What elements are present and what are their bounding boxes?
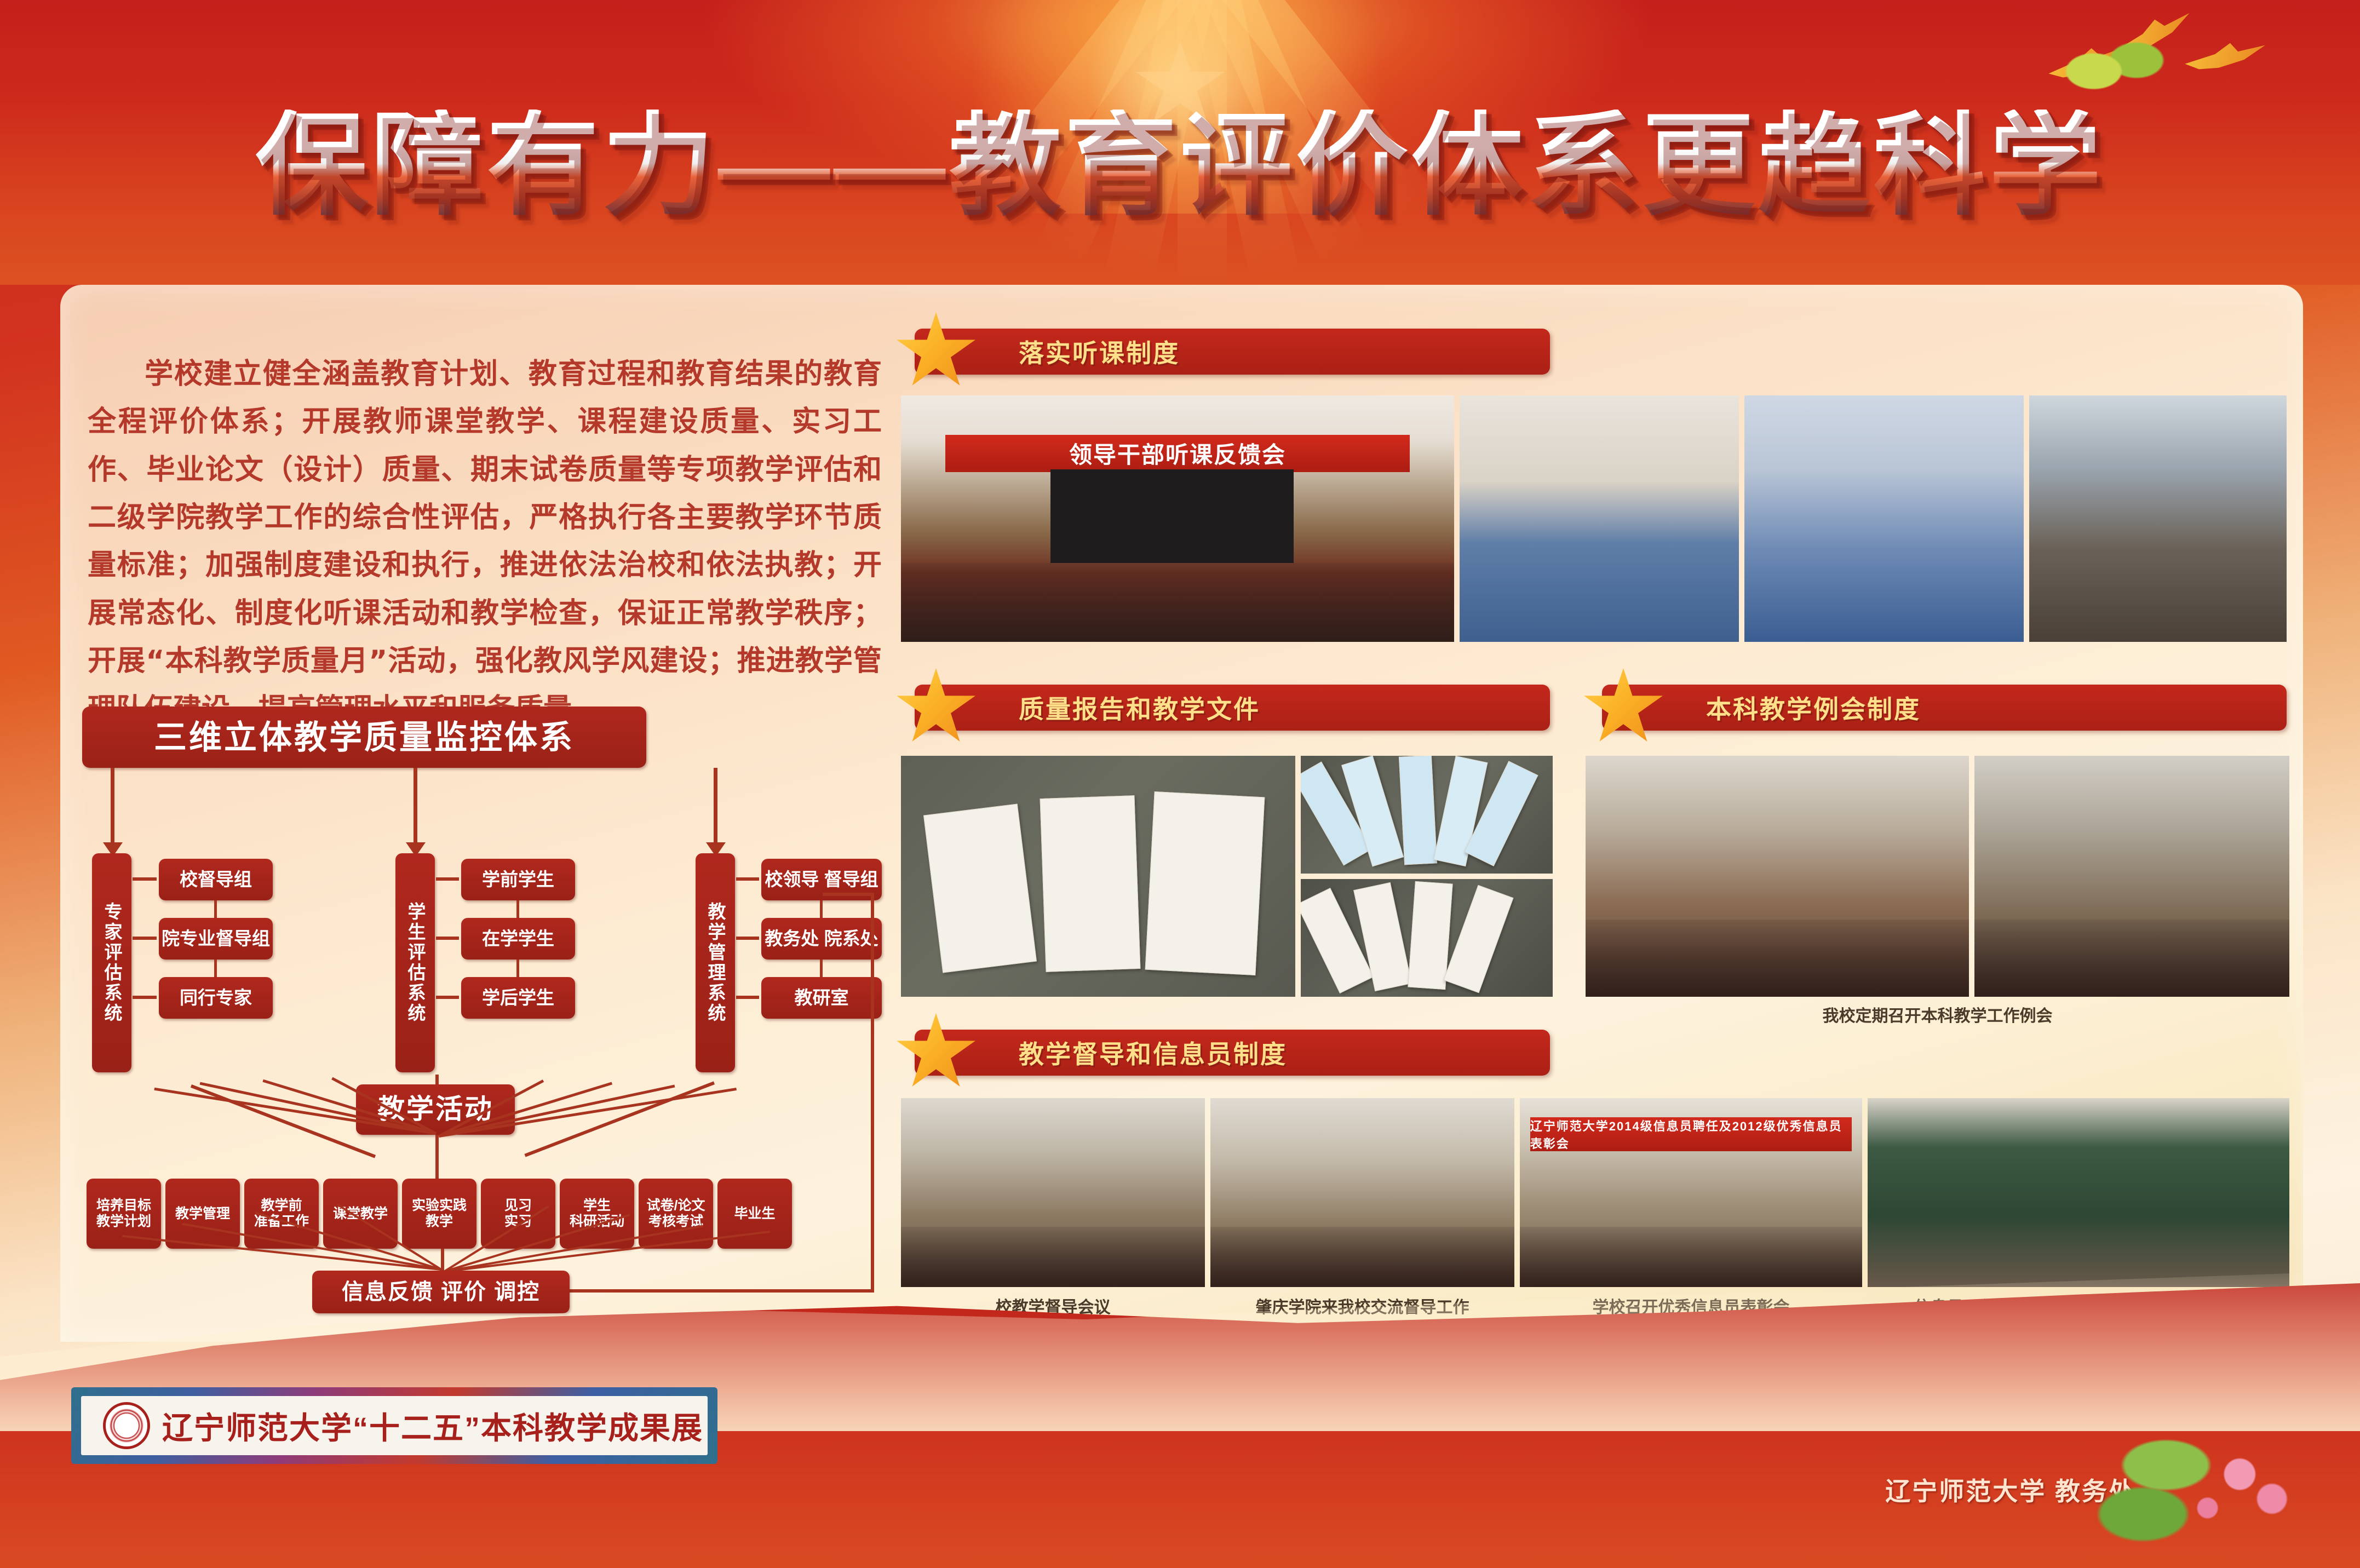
node-peer-experts: 同行专家 bbox=[159, 977, 273, 1019]
activity-node: 教学管理 bbox=[165, 1179, 240, 1249]
connector-line bbox=[133, 937, 157, 940]
feedback-loop-line bbox=[570, 1289, 874, 1293]
node-post-study-student: 学后学生 bbox=[461, 977, 575, 1019]
connector-line bbox=[436, 877, 459, 881]
photo-banner-text: 领导干部听课反馈会 bbox=[945, 435, 1410, 472]
photo-graduate-experience-exchange bbox=[1868, 1098, 2289, 1287]
seating-area bbox=[901, 1227, 1205, 1287]
photo-classroom-audience-b bbox=[1744, 395, 2024, 642]
bulletin-sheet bbox=[1399, 756, 1437, 865]
poster-root: 保障有力——教育评价体系更趋科学 学校建立健全涵盖教育计划、教育过程和教育结果的… bbox=[0, 0, 2360, 1568]
connector-line bbox=[736, 996, 759, 999]
node-teaching-research-office: 教研室 bbox=[761, 977, 882, 1019]
feedback-loop-line bbox=[871, 893, 874, 1293]
node-current-student: 在学学生 bbox=[461, 918, 575, 960]
section-title: 质量报告和教学文件 bbox=[1019, 690, 1260, 726]
report-booklet bbox=[1040, 795, 1141, 972]
leaf-decoration-icon bbox=[2037, 16, 2179, 126]
connector-line bbox=[191, 1084, 376, 1158]
node-college-major-supervision-group: 院专业督导组 bbox=[159, 918, 273, 960]
section-title: 落实听课制度 bbox=[1019, 334, 1180, 370]
node-feedback-evaluation-control: 信息反馈 评价 调控 bbox=[312, 1271, 570, 1313]
photo-quality-report-booklets bbox=[901, 756, 1295, 997]
photo-teachers-discussing bbox=[2029, 395, 2287, 642]
connector-line bbox=[214, 900, 217, 918]
connector-line bbox=[516, 960, 519, 977]
photo-university-documents-fan bbox=[1301, 879, 1553, 997]
seating-area bbox=[1520, 1227, 1862, 1287]
connector-line bbox=[820, 960, 823, 977]
activity-node: 见习 实习 bbox=[481, 1179, 555, 1249]
connector-line bbox=[441, 1249, 444, 1272]
connector-line bbox=[820, 900, 823, 918]
report-booklet bbox=[1145, 791, 1264, 975]
activity-node: 毕业生 bbox=[717, 1179, 792, 1249]
seating-area bbox=[901, 563, 1454, 642]
connector-line bbox=[436, 996, 459, 999]
connector-line bbox=[435, 1135, 439, 1179]
peony-flower-icon bbox=[2097, 1404, 2327, 1557]
section-header-listening: 落实听课制度 bbox=[915, 329, 1550, 375]
activity-node: 学生 科研活动 bbox=[560, 1179, 634, 1249]
node-academic-affairs-office: 教务处 院系处 bbox=[761, 918, 882, 960]
connector-line bbox=[133, 877, 157, 881]
university-seal-icon bbox=[103, 1402, 150, 1449]
connector-line bbox=[414, 768, 417, 845]
intro-paragraph: 学校建立健全涵盖教育计划、教育过程和教育结果的教育全程评价体系；开展教师课堂教学… bbox=[88, 351, 882, 733]
document-sheet bbox=[1443, 885, 1513, 993]
photo-teaching-bulletins-fan bbox=[1301, 756, 1553, 874]
connector-line bbox=[714, 768, 717, 845]
system-box-student: 学生评估系统 bbox=[395, 853, 435, 1072]
seating-area bbox=[1586, 920, 1969, 997]
node-school-supervision-group: 校督导组 bbox=[159, 859, 273, 900]
title-container: 保障有力——教育评价体系更趋科学 bbox=[0, 110, 2360, 222]
photo-banner-text: 辽宁师范大学2014级信息员聘任及2012级优秀信息员表彰会 bbox=[1530, 1117, 1852, 1151]
photo-information-officer-award: 辽宁师范大学2014级信息员聘任及2012级优秀信息员表彰会 bbox=[1520, 1098, 1862, 1287]
section-title: 本科教学例会制度 bbox=[1706, 690, 1921, 726]
node-pre-study-student: 学前学生 bbox=[461, 859, 575, 900]
report-booklet bbox=[923, 803, 1037, 973]
connector-line bbox=[516, 900, 519, 918]
quality-monitoring-diagram: 三维立体教学质量监控体系 专家评估系统 学生评估系统 教学管理系统 校督导组 院… bbox=[82, 707, 887, 1314]
dove-icon bbox=[2183, 38, 2269, 81]
section-header-undergrad-meeting: 本科教学例会制度 bbox=[1602, 685, 2287, 731]
photo-regular-meeting-hall bbox=[1586, 756, 1969, 997]
system-box-expert: 专家评估系统 bbox=[92, 853, 131, 1072]
connector-line bbox=[736, 937, 759, 940]
activity-node: 实验实践 教学 bbox=[402, 1179, 476, 1249]
photo-school-supervision-meeting bbox=[901, 1098, 1205, 1287]
photo-regular-meeting-room bbox=[1974, 756, 2289, 997]
connector-line bbox=[111, 768, 114, 845]
connector-line bbox=[214, 960, 217, 977]
photo-caption: 我校定期召开本科教学工作例会 bbox=[1586, 1002, 2289, 1026]
photo-leader-feedback-meeting: 领导干部听课反馈会 bbox=[901, 395, 1454, 642]
section-header-supervision: 教学督导和信息员制度 bbox=[915, 1030, 1550, 1076]
system-box-management: 教学管理系统 bbox=[696, 853, 735, 1072]
feedback-loop-line bbox=[823, 893, 873, 896]
seating-area bbox=[1974, 920, 2289, 997]
screen-element bbox=[1050, 469, 1294, 563]
activity-node: 试卷/论文 考核考试 bbox=[639, 1179, 713, 1249]
footer-banner: 辽宁师范大学“十二五”本科教学成果展 bbox=[71, 1387, 717, 1464]
connector-line bbox=[133, 996, 157, 999]
diagram-title: 三维立体教学质量监控体系 bbox=[82, 707, 646, 768]
page-title: 保障有力——教育评价体系更趋科学 bbox=[256, 110, 2105, 222]
footer-banner-text: 辽宁师范大学“十二五”本科教学成果展 bbox=[162, 1404, 703, 1448]
section-title: 教学督导和信息员制度 bbox=[1019, 1035, 1287, 1071]
photo-zhaoqing-exchange-meeting bbox=[1210, 1098, 1514, 1287]
connector-line bbox=[436, 937, 459, 940]
seating-area bbox=[1210, 1227, 1514, 1287]
connector-line bbox=[736, 877, 759, 881]
photo-classroom-audience-a bbox=[1460, 395, 1739, 642]
footer-banner-inner: 辽宁师范大学“十二五”本科教学成果展 bbox=[81, 1396, 708, 1455]
section-header-quality-report: 质量报告和教学文件 bbox=[915, 685, 1550, 731]
